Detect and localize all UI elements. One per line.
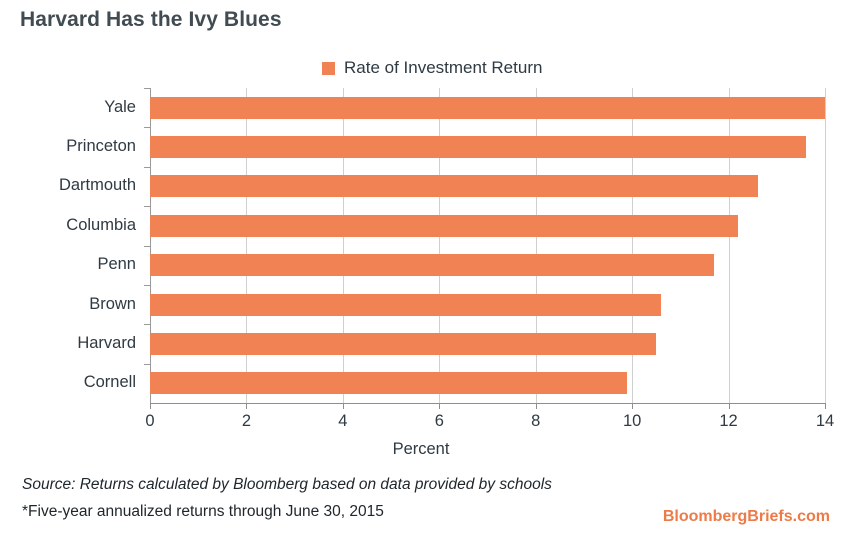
- bar-cornell: [150, 372, 627, 394]
- x-axis-tick: [729, 403, 730, 409]
- bar-penn: [150, 254, 714, 276]
- bar-fill: [150, 175, 758, 197]
- bar-princeton: [150, 136, 806, 158]
- x-axis-tick: [536, 403, 537, 409]
- y-axis-label-brown: Brown: [16, 295, 136, 314]
- source-note: Source: Returns calculated by Bloomberg …: [22, 476, 552, 494]
- bar-fill: [150, 254, 714, 276]
- x-axis-tick-label: 6: [419, 412, 459, 431]
- bar-fill: [150, 215, 738, 237]
- x-axis-tick: [825, 403, 826, 409]
- bar-harvard: [150, 333, 656, 355]
- y-axis-tick: [144, 285, 150, 286]
- x-axis-tick: [343, 403, 344, 409]
- plot-area: YalePrincetonDartmouthColumbiaPennBrownH…: [150, 88, 825, 403]
- legend-label: Rate of Investment Return: [344, 58, 542, 78]
- x-axis-tick-label: 8: [516, 412, 556, 431]
- x-axis-tick: [246, 403, 247, 409]
- x-axis-tick-label: 0: [130, 412, 170, 431]
- x-axis-tick: [150, 403, 151, 409]
- x-axis-tick-label: 12: [709, 412, 749, 431]
- y-axis-label-dartmouth: Dartmouth: [16, 176, 136, 195]
- bar-columbia: [150, 215, 738, 237]
- bar-brown: [150, 294, 661, 316]
- x-axis-line: [150, 403, 826, 404]
- footnote: *Five-year annualized returns through Ju…: [22, 503, 384, 521]
- page-title: Harvard Has the Ivy Blues: [20, 8, 282, 32]
- x-axis-tick: [439, 403, 440, 409]
- y-axis-tick: [144, 324, 150, 325]
- y-axis-label-harvard: Harvard: [16, 334, 136, 353]
- x-axis-tick: [632, 403, 633, 409]
- bar-fill: [150, 97, 825, 119]
- x-axis-tick-label: 4: [323, 412, 363, 431]
- y-axis-label-penn: Penn: [16, 255, 136, 274]
- x-axis-tick-label: 2: [226, 412, 266, 431]
- y-axis-tick: [144, 127, 150, 128]
- bar-fill: [150, 372, 627, 394]
- bar-fill: [150, 333, 656, 355]
- y-axis-label-princeton: Princeton: [16, 137, 136, 156]
- legend-swatch-icon: [322, 62, 335, 75]
- bar-yale: [150, 97, 825, 119]
- chart-legend: Rate of Investment Return: [322, 58, 542, 78]
- bar-fill: [150, 294, 661, 316]
- bar-fill: [150, 136, 806, 158]
- y-axis-label-columbia: Columbia: [16, 216, 136, 235]
- bar-dartmouth: [150, 175, 758, 197]
- y-axis-label-yale: Yale: [16, 98, 136, 117]
- y-axis-tick: [144, 246, 150, 247]
- gridline: [825, 88, 826, 403]
- y-axis-tick: [144, 364, 150, 365]
- x-axis-title: Percent: [0, 440, 842, 459]
- x-axis-tick-label: 14: [805, 412, 842, 431]
- brand-label: BloombergBriefs.com: [663, 508, 830, 526]
- y-axis-tick: [144, 206, 150, 207]
- y-axis-label-cornell: Cornell: [16, 373, 136, 392]
- y-axis-tick: [144, 88, 150, 89]
- y-axis-tick: [144, 167, 150, 168]
- x-axis-tick-label: 10: [612, 412, 652, 431]
